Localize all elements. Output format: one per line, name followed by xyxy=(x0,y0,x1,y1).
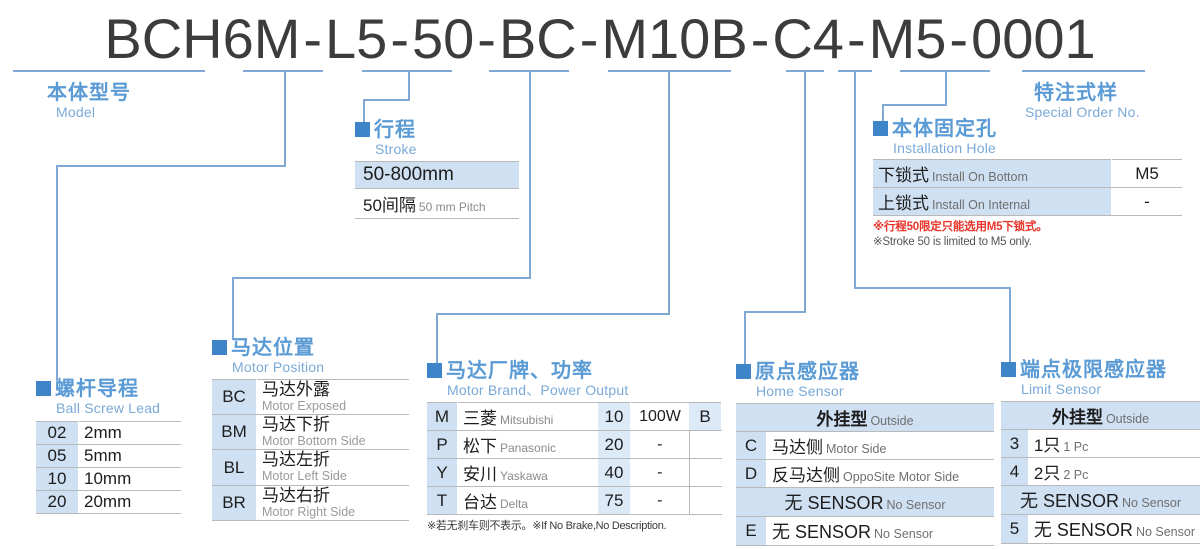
home-sensor-table: 外挂型Outside C 马达侧Motor Side D 反马达侧OppoSit… xyxy=(736,403,994,546)
install-bottom-en: Install On Bottom xyxy=(932,170,1028,184)
brand-name: 松下Panasonic xyxy=(458,431,599,459)
lead-code: 20 xyxy=(36,491,79,514)
motor-position-code: BR xyxy=(212,485,257,520)
stroke-pitch-en: 50 mm Pitch xyxy=(419,200,486,214)
block-model: 本体型号 Model xyxy=(47,83,131,119)
limit-sensor-cn: 1只 xyxy=(1034,436,1060,455)
limit-sensor-en: 1 Pc xyxy=(1063,440,1088,454)
brand-code: Y xyxy=(427,459,458,487)
bullet-square-icon xyxy=(873,121,888,136)
block-motor-brand-title-en: Motor Brand、Power Output xyxy=(447,383,722,397)
limit-sensor-band-cn: 无 SENSOR xyxy=(1020,491,1119,511)
block-installation-hole-title-en: Installation Hole xyxy=(893,141,1182,155)
home-sensor-band-en: No Sensor xyxy=(886,498,945,512)
limit-sensor-en: No Sensor xyxy=(1136,525,1195,539)
install-internal-value: - xyxy=(1112,188,1183,216)
table-row[interactable]: 上锁式Install On Internal - xyxy=(873,188,1182,216)
motor-position-table: BC 马达外露Motor Exposed BM 马达下折Motor Bottom… xyxy=(212,379,409,521)
bullet-square-icon xyxy=(355,122,370,137)
limit-sensor-desc: 无 SENSORNo Sensor xyxy=(1028,515,1200,544)
block-stroke-title-cn: 行程 xyxy=(374,119,416,141)
table-row[interactable]: BL 马达左折Motor Left Side xyxy=(212,450,409,485)
block-motor-brand-title-cn: 马达厂牌、功率 xyxy=(446,360,593,382)
motor-position-desc: 马达右折Motor Right Side xyxy=(257,485,410,520)
lead-value: 20mm xyxy=(79,491,182,514)
stroke-range-cell: 50-800mm xyxy=(355,162,519,189)
block-model-title-en: Model xyxy=(56,105,131,119)
brand-code: M xyxy=(427,403,458,431)
motor-position-cn: 马达外露 xyxy=(262,381,404,399)
table-row[interactable]: Y 安川Yaskawa 40 - xyxy=(427,459,722,487)
home-sensor-en: OppoSite Motor Side xyxy=(843,470,959,484)
install-internal-label: 上锁式Install On Internal xyxy=(873,188,1112,216)
bullet-square-icon xyxy=(427,363,442,378)
lead-code: 05 xyxy=(36,445,79,468)
table-row[interactable]: D 反马达侧OppoSite Motor Side xyxy=(736,460,994,488)
limit-sensor-en: 2 Pc xyxy=(1063,468,1088,482)
motor-position-code: BC xyxy=(212,380,257,415)
home-sensor-code: C xyxy=(736,432,767,460)
home-sensor-desc: 马达侧Motor Side xyxy=(767,432,995,460)
table-row[interactable]: P 松下Panasonic 20 - xyxy=(427,431,722,459)
motor-position-desc: 马达左折Motor Left Side xyxy=(257,450,410,485)
brand-name: 台达Delta xyxy=(458,487,599,515)
brand-cn: 安川 xyxy=(463,465,497,484)
home-sensor-nosensor-band: 无 SENSORNo Sensor xyxy=(736,488,994,517)
block-ball-screw-lead-title-cn: 螺杆导程 xyxy=(55,378,139,400)
brand-en: Delta xyxy=(500,497,528,511)
home-sensor-code: E xyxy=(736,517,767,546)
block-installation-hole-title-cn: 本体固定孔 xyxy=(892,118,997,140)
motor-brand-table: M 三菱Mitsubishi 10 100W B P 松下Panasonic 2… xyxy=(427,402,722,515)
table-row[interactable]: 20 20mm xyxy=(36,491,181,514)
table-row[interactable]: 50间隔50 mm Pitch xyxy=(355,189,519,219)
power-code: 75 xyxy=(598,487,631,515)
table-row[interactable]: T 台达Delta 75 - xyxy=(427,487,722,515)
ball-screw-lead-table: 02 2mm 05 5mm 10 10mm 20 20mm xyxy=(36,421,181,514)
table-row[interactable]: 02 2mm xyxy=(36,422,181,445)
home-sensor-en: Motor Side xyxy=(826,442,886,456)
motor-position-code: BL xyxy=(212,450,257,485)
table-row[interactable]: 10 10mm xyxy=(36,468,181,491)
motor-position-desc: 马达下折Motor Bottom Side xyxy=(257,415,410,450)
home-sensor-cn: 反马达侧 xyxy=(772,466,840,485)
table-row[interactable]: 下锁式Install On Bottom M5 xyxy=(873,160,1182,188)
brand-cn: 松下 xyxy=(463,437,497,456)
bullet-square-icon xyxy=(36,381,51,396)
stroke-table: 50-800mm 50间隔50 mm Pitch xyxy=(355,161,519,219)
home-sensor-header-en: Outside xyxy=(870,414,913,428)
block-home-sensor: 原点感应器 Home Sensor 外挂型Outside C 马达侧Motor … xyxy=(736,362,994,546)
block-installation-hole: 本体固定孔 Installation Hole 下锁式Install On Bo… xyxy=(873,119,1182,248)
block-special-order: 特注式样 Special Order No. xyxy=(1025,83,1140,119)
lead-value: 10mm xyxy=(79,468,182,491)
table-row[interactable]: C 马达侧Motor Side xyxy=(736,432,994,460)
block-limit-sensor-title-en: Limit Sensor xyxy=(1021,382,1200,396)
lead-value: 2mm xyxy=(79,422,182,445)
power-code: 20 xyxy=(598,431,631,459)
power-code: 10 xyxy=(598,403,631,431)
motor-position-desc: 马达外露Motor Exposed xyxy=(257,380,410,415)
limit-sensor-cn: 2只 xyxy=(1034,464,1060,483)
power-code: 40 xyxy=(598,459,631,487)
install-internal-en: Install On Internal xyxy=(932,198,1030,212)
motor-position-en: Motor Right Side xyxy=(262,505,404,519)
table-row[interactable]: M 三菱Mitsubishi 10 100W B xyxy=(427,403,722,431)
installation-hole-note-en: ※Stroke 50 is limited to M5 only. xyxy=(873,234,1182,248)
brand-code: P xyxy=(427,431,458,459)
brand-code: T xyxy=(427,487,458,515)
block-model-title-cn: 本体型号 xyxy=(47,82,131,104)
limit-sensor-desc: 2只2 Pc xyxy=(1028,458,1200,486)
table-row[interactable]: 外挂型Outside xyxy=(1001,402,1200,430)
installation-hole-note-cn: ※行程50限定只能选用M5下锁式。 xyxy=(873,218,1182,234)
block-limit-sensor: 端点极限感应器 Limit Sensor 外挂型Outside 3 1只1 Pc… xyxy=(1001,360,1200,544)
home-sensor-band-cn: 无 SENSOR xyxy=(784,493,883,513)
brand-en: Yaskawa xyxy=(500,469,548,483)
block-special-order-title-cn: 特注式样 xyxy=(1034,82,1118,104)
home-sensor-cn: 无 SENSOR xyxy=(772,522,871,542)
lead-code: 02 xyxy=(36,422,79,445)
motor-position-code: BM xyxy=(212,415,257,450)
block-stroke: 行程 Stroke 50-800mm 50间隔50 mm Pitch xyxy=(355,120,519,219)
limit-sensor-code: 4 xyxy=(1001,458,1028,486)
limit-sensor-desc: 1只1 Pc xyxy=(1028,430,1200,458)
installation-hole-table: 下锁式Install On Bottom M5 上锁式Install On In… xyxy=(873,159,1182,216)
stroke-pitch-cell: 50间隔50 mm Pitch xyxy=(355,189,519,219)
limit-sensor-code: 5 xyxy=(1001,515,1028,544)
brake-code: B xyxy=(689,403,722,431)
table-row[interactable]: BM 马达下折Motor Bottom Side xyxy=(212,415,409,450)
power-value: - xyxy=(631,459,690,487)
home-sensor-code: D xyxy=(736,460,767,488)
table-row[interactable]: BR 马达右折Motor Right Side xyxy=(212,485,409,520)
bullet-square-icon xyxy=(736,364,751,379)
brand-en: Panasonic xyxy=(500,441,556,455)
brand-en: Mitsubishi xyxy=(500,413,553,427)
bullet-square-icon xyxy=(1001,362,1016,377)
block-motor-brand: 马达厂牌、功率 Motor Brand、Power Output M 三菱Mit… xyxy=(427,361,722,533)
install-bottom-label: 下锁式Install On Bottom xyxy=(873,160,1112,188)
limit-sensor-header: 外挂型Outside xyxy=(1001,402,1200,430)
table-row[interactable]: 50-800mm xyxy=(355,162,519,189)
power-value: - xyxy=(631,431,690,459)
limit-sensor-code: 3 xyxy=(1001,430,1028,458)
block-motor-position-title-en: Motor Position xyxy=(232,360,409,374)
block-motor-position: 马达位置 Motor Position BC 马达外露Motor Exposed… xyxy=(212,338,409,521)
brand-name: 三菱Mitsubishi xyxy=(458,403,599,431)
home-sensor-header: 外挂型Outside xyxy=(736,404,994,432)
motor-position-en: Motor Bottom Side xyxy=(262,434,404,448)
motor-brand-note: ※若无刹车则不表示。※If No Brake,No Description. xyxy=(427,517,722,533)
block-limit-sensor-title-cn: 端点极限感应器 xyxy=(1020,359,1167,381)
home-sensor-desc: 无 SENSORNo Sensor xyxy=(767,517,995,546)
home-sensor-desc: 反马达侧OppoSite Motor Side xyxy=(767,460,995,488)
block-home-sensor-title-en: Home Sensor xyxy=(756,384,994,398)
stroke-pitch-cn: 50间隔 xyxy=(363,196,416,215)
motor-position-cn: 马达下折 xyxy=(262,416,404,434)
limit-sensor-header-en: Outside xyxy=(1106,412,1149,426)
lead-value: 5mm xyxy=(79,445,182,468)
motor-position-cn: 马达左折 xyxy=(262,451,404,469)
limit-sensor-header-cn: 外挂型 xyxy=(1052,408,1103,427)
home-sensor-cn: 马达侧 xyxy=(772,438,823,457)
brake-code xyxy=(689,431,722,459)
home-sensor-header-cn: 外挂型 xyxy=(816,410,867,429)
block-home-sensor-title-cn: 原点感应器 xyxy=(755,361,860,383)
brand-cn: 三菱 xyxy=(463,409,497,428)
motor-position-en: Motor Exposed xyxy=(262,399,404,413)
table-row[interactable]: E 无 SENSORNo Sensor xyxy=(736,517,994,546)
install-internal-cn: 上锁式 xyxy=(878,194,929,213)
bullet-square-icon xyxy=(212,340,227,355)
block-ball-screw-lead-title-en: Ball Screw Lead xyxy=(56,401,181,415)
block-stroke-title-en: Stroke xyxy=(375,142,519,156)
home-sensor-en: No Sensor xyxy=(874,527,933,541)
limit-sensor-table: 外挂型Outside 3 1只1 Pc 4 2只2 Pc 无 SENSORNo … xyxy=(1001,401,1200,544)
table-row[interactable]: 4 2只2 Pc xyxy=(1001,458,1200,486)
install-bottom-cn: 下锁式 xyxy=(878,166,929,185)
motor-position-cn: 马达右折 xyxy=(262,487,404,505)
model-code-diagram: BCH6M-L5-50-BC-M10B-C4-M5-0001 xyxy=(0,0,1200,549)
block-motor-position-title-cn: 马达位置 xyxy=(231,337,315,359)
table-row[interactable]: 3 1只1 Pc xyxy=(1001,430,1200,458)
table-row[interactable]: 外挂型Outside xyxy=(736,404,994,432)
install-bottom-value: M5 xyxy=(1112,160,1183,188)
block-special-order-title-en: Special Order No. xyxy=(1025,105,1140,119)
brake-code xyxy=(689,459,722,487)
table-row[interactable]: 5 无 SENSORNo Sensor xyxy=(1001,515,1200,544)
table-row[interactable]: 无 SENSORNo Sensor xyxy=(1001,486,1200,515)
power-value: - xyxy=(631,487,690,515)
lead-code: 10 xyxy=(36,468,79,491)
power-value: 100W xyxy=(631,403,690,431)
brand-cn: 台达 xyxy=(463,493,497,512)
limit-sensor-band-en: No Sensor xyxy=(1122,496,1181,510)
table-row[interactable]: BC 马达外露Motor Exposed xyxy=(212,380,409,415)
limit-sensor-cn: 无 SENSOR xyxy=(1034,520,1133,540)
brand-name: 安川Yaskawa xyxy=(458,459,599,487)
limit-sensor-nosensor-band: 无 SENSORNo Sensor xyxy=(1001,486,1200,515)
table-row[interactable]: 无 SENSORNo Sensor xyxy=(736,488,994,517)
motor-position-en: Motor Left Side xyxy=(262,469,404,483)
table-row[interactable]: 05 5mm xyxy=(36,445,181,468)
block-ball-screw-lead: 螺杆导程 Ball Screw Lead 02 2mm 05 5mm 10 10… xyxy=(36,379,181,514)
brake-code xyxy=(689,487,722,515)
